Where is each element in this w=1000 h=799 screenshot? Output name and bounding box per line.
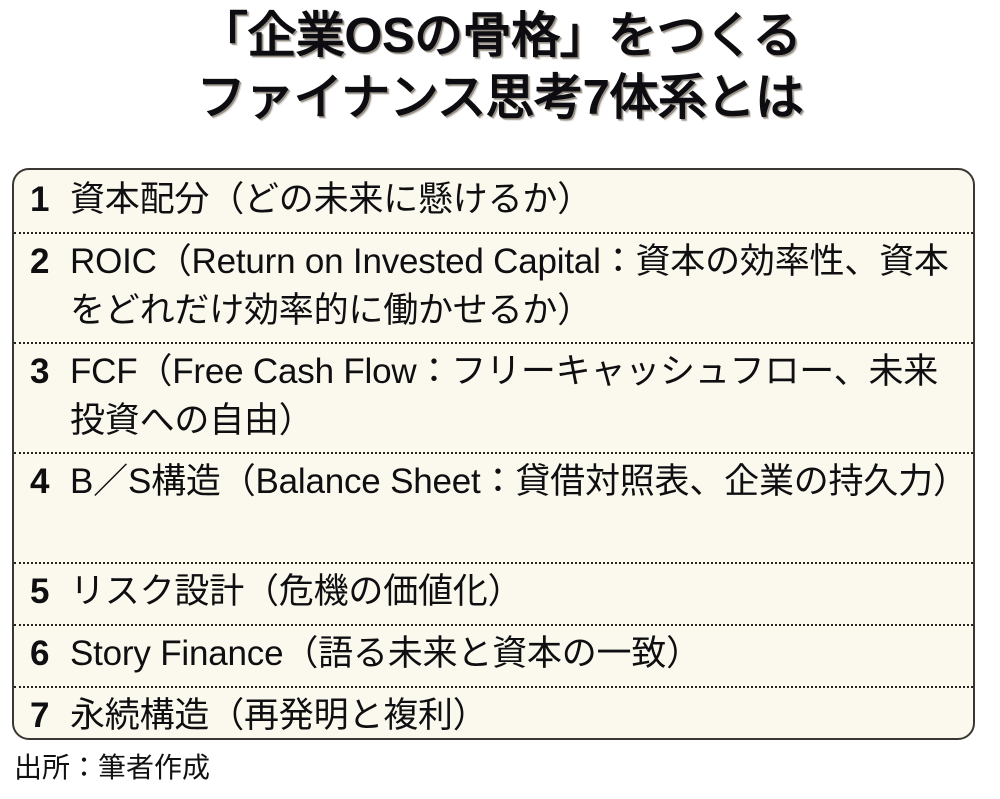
table-row: 6Story Finance（語る未来と資本の一致） — [14, 624, 973, 686]
table-row: 7永続構造（再発明と複利） — [14, 686, 973, 740]
table-row: 4B／S構造（Balance Sheet：貸借対照表、企業の持久力） — [14, 452, 973, 562]
table-row: 5リスク設計（危機の価値化） — [14, 562, 973, 624]
table-body: 1資本配分（どの未来に懸けるか）2ROIC（Return on Invested… — [14, 170, 973, 738]
page-title-line-1: 「企業OSの骨格」をつくる — [0, 6, 1000, 68]
table-row: 2ROIC（Return on Invested Capital：資本の効率性、… — [14, 232, 973, 342]
table-row-number: 6 — [28, 629, 70, 678]
table-row-number: 5 — [28, 567, 70, 616]
table-row-number: 2 — [28, 237, 70, 286]
table-row-text: 資本配分（どの未来に懸けるか） — [70, 175, 963, 224]
source-note: 出所：筆者作成 — [14, 750, 210, 786]
page-title: 「企業OSの骨格」をつくる ファイナンス思考7体系とは — [0, 0, 1000, 129]
table-row-number: 1 — [28, 175, 70, 224]
page-title-line-2: ファイナンス思考7体系とは — [0, 68, 1000, 130]
table-row-text: FCF（Free Cash Flow：フリーキャッシュフロー、未来投資への自由） — [70, 347, 963, 445]
table-row: 3FCF（Free Cash Flow：フリーキャッシュフロー、未来投資への自由… — [14, 342, 973, 452]
table-row-text: 永続構造（再発明と複利） — [70, 691, 963, 740]
table-row-text: B／S構造（Balance Sheet：貸借対照表、企業の持久力） — [70, 457, 963, 506]
table-row-text: Story Finance（語る未来と資本の一致） — [70, 629, 963, 678]
framework-table: 1資本配分（どの未来に懸けるか）2ROIC（Return on Invested… — [12, 168, 975, 740]
table-row-number: 3 — [28, 347, 70, 396]
table-row: 1資本配分（どの未来に懸けるか） — [14, 170, 973, 232]
table-row-number: 7 — [28, 691, 70, 740]
table-row-number: 4 — [28, 457, 70, 506]
table-row-text: ROIC（Return on Invested Capital：資本の効率性、資… — [70, 237, 963, 335]
table-row-text: リスク設計（危機の価値化） — [70, 567, 963, 616]
